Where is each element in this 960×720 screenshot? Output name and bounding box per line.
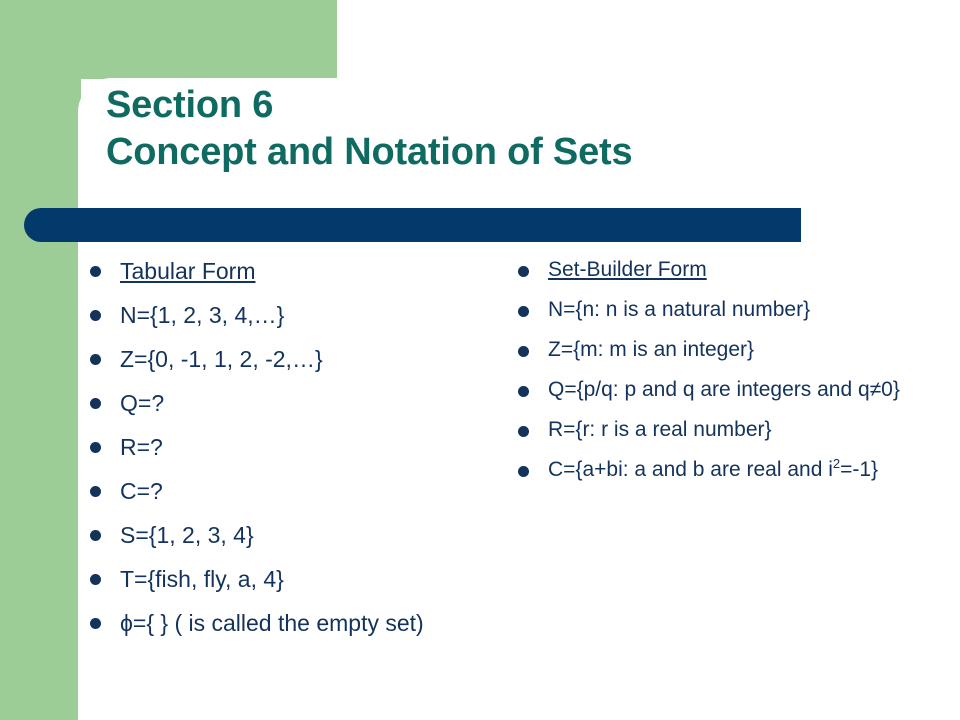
- bullet-dot-icon: [518, 426, 529, 437]
- navy-title-rule: [24, 208, 801, 242]
- list-item: Tabular Form: [86, 256, 476, 286]
- list-item: R=?: [86, 432, 476, 462]
- title-line-1: Section 6: [106, 82, 926, 129]
- list-item-label: ϕ={ } ( is called the empty set): [120, 610, 424, 636]
- list-item-label: Tabular Form: [120, 258, 255, 284]
- column-set-builder-form: Set-Builder Form N={n: n is a natural nu…: [514, 256, 954, 496]
- bullet-dot-icon: [90, 310, 101, 321]
- list-item-label: R=?: [120, 434, 163, 460]
- list-item: ϕ={ } ( is called the empty set): [86, 608, 476, 638]
- list-item: C=?: [86, 476, 476, 506]
- bullet-dot-icon: [90, 442, 101, 453]
- bullet-dot-icon: [518, 346, 529, 357]
- list-item-label: N={n: n is a natural number}: [548, 298, 810, 321]
- list-item: Z={0, -1, 1, 2, -2,…}: [86, 344, 476, 374]
- list-item: R={r: r is a real number}: [514, 416, 954, 444]
- list-item-label: Z={0, -1, 1, 2, -2,…}: [120, 346, 323, 372]
- list-item-label: Z={m: m is an integer}: [548, 338, 754, 361]
- bullet-dot-icon: [90, 574, 101, 585]
- list-item-label: R={r: r is a real number}: [548, 418, 772, 441]
- list-item: Q={p/q: p and q are integers and q≠0}: [514, 376, 954, 404]
- list-item-label: Q=?: [120, 390, 164, 416]
- slide-canvas: Section 6 Concept and Notation of Sets T…: [0, 0, 960, 720]
- bullet-dot-icon: [518, 266, 529, 277]
- list-item-label: Q={p/q: p and q are integers and q≠0}: [548, 378, 900, 401]
- bullet-list-left: Tabular Form N={1, 2, 3, 4,…} Z={0, -1, …: [86, 256, 476, 638]
- list-item: Q=?: [86, 388, 476, 418]
- bullet-dot-icon: [90, 618, 101, 629]
- bullet-list-right: Set-Builder Form N={n: n is a natural nu…: [514, 256, 954, 484]
- green-top-block: [0, 0, 337, 79]
- bullet-dot-icon: [90, 354, 101, 365]
- list-item-label: C=?: [120, 478, 163, 504]
- bullet-dot-icon: [518, 466, 529, 477]
- list-item-label: T={fish, fly, a, 4}: [120, 566, 284, 592]
- list-item-label: S={1, 2, 3, 4}: [120, 522, 254, 548]
- bullet-dot-icon: [90, 486, 101, 497]
- list-item-label-tail: =-1}: [840, 458, 878, 481]
- bullet-dot-icon: [90, 398, 101, 409]
- list-item-label: Set-Builder Form: [548, 258, 707, 281]
- body-content: Tabular Form N={1, 2, 3, 4,…} Z={0, -1, …: [0, 256, 960, 720]
- list-item: T={fish, fly, a, 4}: [86, 564, 476, 594]
- page-title: Section 6 Concept and Notation of Sets: [106, 82, 926, 176]
- bullet-dot-icon: [518, 386, 529, 397]
- list-item-label: N={1, 2, 3, 4,…}: [120, 302, 284, 328]
- list-item: C={a+bi: a and b are real and i2=-1}: [514, 456, 954, 484]
- list-item: Set-Builder Form: [514, 256, 954, 284]
- bullet-dot-icon: [90, 530, 101, 541]
- column-tabular-form: Tabular Form N={1, 2, 3, 4,…} Z={0, -1, …: [86, 256, 476, 652]
- list-item: N={n: n is a natural number}: [514, 296, 954, 324]
- list-item: N={1, 2, 3, 4,…}: [86, 300, 476, 330]
- bullet-dot-icon: [518, 306, 529, 317]
- title-line-2: Concept and Notation of Sets: [106, 129, 926, 176]
- list-item: S={1, 2, 3, 4}: [86, 520, 476, 550]
- list-item: Z={m: m is an integer}: [514, 336, 954, 364]
- list-item-label: C={a+bi: a and b are real and i: [548, 458, 833, 481]
- bullet-dot-icon: [90, 266, 101, 277]
